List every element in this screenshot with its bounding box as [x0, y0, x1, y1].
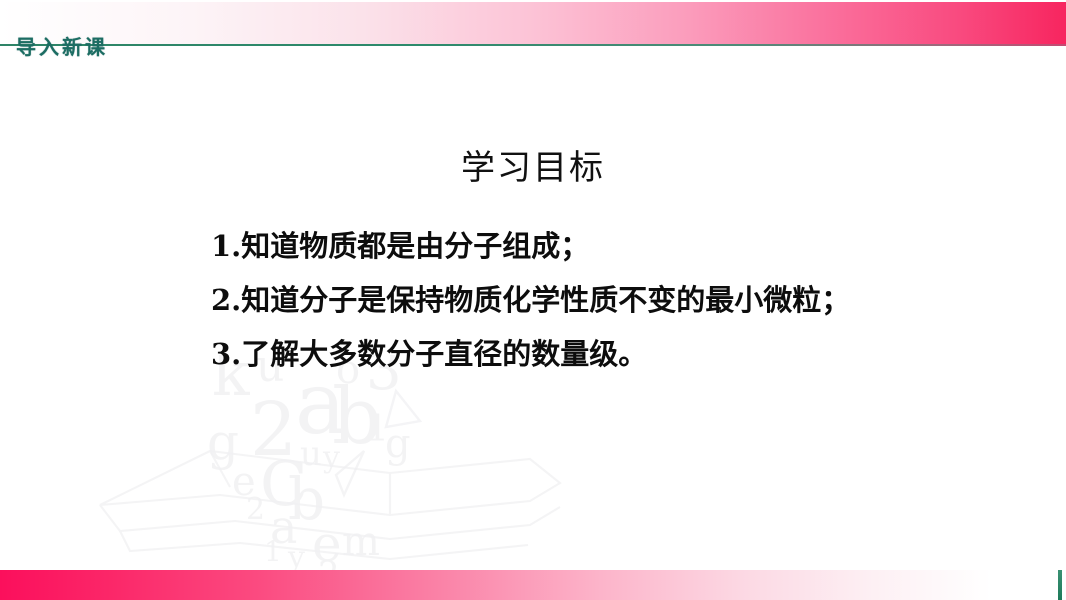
- svg-text:2: 2: [250, 387, 297, 473]
- svg-text:b: b: [332, 372, 382, 462]
- objectives-list: 1.知道物质都是由分子组成； 2.知道分子是保持物质化学性质不变的最小微粒； 3…: [211, 219, 1031, 381]
- page-title: 学习目标: [0, 140, 1066, 189]
- list-item: 2.知道分子是保持物质化学性质不变的最小微粒；: [211, 273, 1031, 327]
- svg-text:2: 2: [246, 492, 265, 527]
- bottom-gradient-band: [0, 570, 1066, 600]
- section-header-label: 导入新课: [16, 31, 108, 60]
- svg-text:g: g: [207, 413, 239, 471]
- svg-text:m: m: [342, 519, 380, 565]
- svg-text:y: y: [322, 440, 340, 475]
- svg-text:1: 1: [366, 409, 389, 450]
- presentation-slide: k u o 3 g 2 a b 1 u y g e C 2 b a 1 y e: [0, 0, 1066, 600]
- svg-text:u: u: [300, 434, 322, 474]
- top-gradient-band: [0, 2, 1066, 44]
- svg-text:g: g: [385, 421, 411, 467]
- bottom-right-green-accent: [1058, 570, 1062, 600]
- svg-text:1: 1: [264, 535, 282, 568]
- list-item: 3.了解大多数分子直径的数量级。: [211, 327, 1031, 381]
- svg-text:e: e: [232, 459, 256, 505]
- svg-text:b: b: [288, 465, 325, 533]
- svg-text:C: C: [260, 447, 307, 520]
- header-divider-rule: [0, 44, 1066, 46]
- open-book-watermark: k u o 3 g 2 a b 1 u y g e C 2 b a 1 y e: [60, 355, 680, 585]
- list-item: 1.知道物质都是由分子组成；: [211, 219, 1031, 273]
- svg-text:e: e: [312, 515, 342, 573]
- svg-text:a: a: [270, 500, 297, 554]
